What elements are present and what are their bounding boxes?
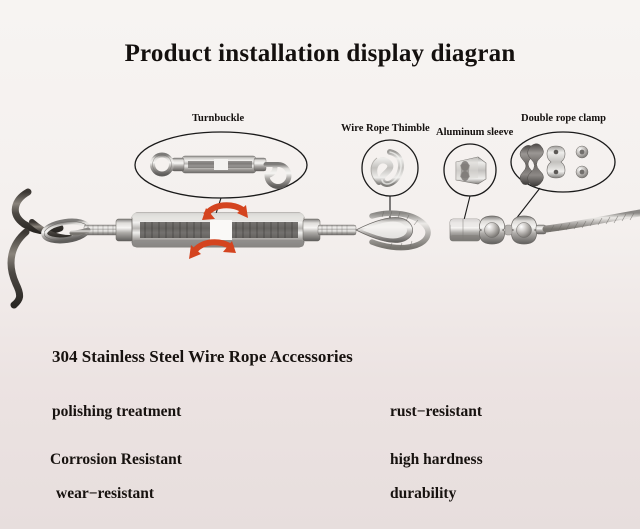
callout-bubble-sleeve (444, 144, 496, 224)
product-headline: 304 Stainless Steel Wire Rope Accessorie… (52, 347, 353, 367)
callout-bubble-turnbuckle (135, 132, 307, 226)
installation-diagram (0, 0, 640, 529)
callout-label-turnbuckle: Turnbuckle (192, 113, 244, 124)
feature-durability: durability (390, 485, 456, 503)
assembly-wire-rope-thimble (356, 211, 428, 249)
callout-label-double-rope-clamp: Double rope clamp (521, 113, 606, 124)
bubble-part-thimble (371, 152, 401, 184)
bubble-part-turnbuckle (153, 155, 290, 187)
feature-polishing-treatment: polishing treatment (52, 403, 181, 421)
feature-rust-resistant: rust−resistant (390, 403, 482, 421)
callout-label-thimble: Wire Rope Thimble (341, 123, 430, 134)
callout-label-aluminum-sleeve: Aluminum sleeve (436, 127, 513, 138)
assembly-aluminum-sleeve (450, 219, 480, 241)
bubble-part-double-rope-clamp (520, 144, 588, 187)
feature-corrosion-resistant: Corrosion Resistant (50, 451, 182, 469)
product-poster: Product installation display diagran (0, 0, 640, 529)
feature-high-hardness: high hardness (390, 451, 483, 469)
assembly-double-rope-clamp (479, 216, 546, 244)
assembly-anchor-hook (11, 192, 89, 305)
feature-wear-resistant: wear−resistant (56, 485, 154, 503)
assembly-turnbuckle (116, 213, 356, 247)
bubble-part-aluminum-sleeve (456, 157, 486, 184)
